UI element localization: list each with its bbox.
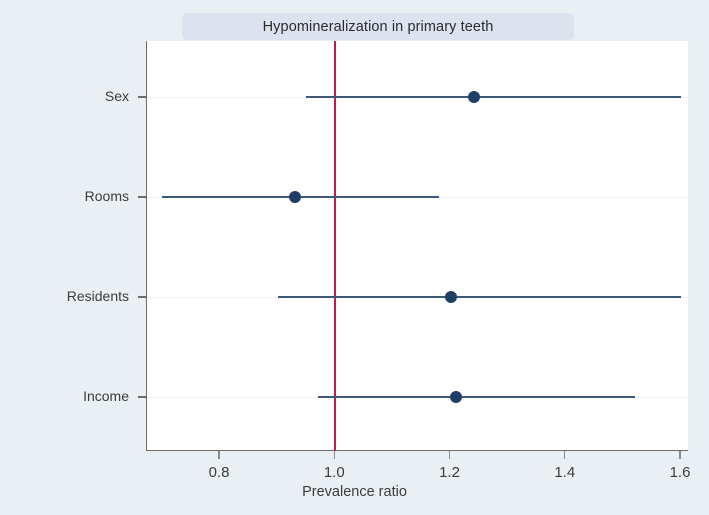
reference-line-icon [334,41,336,451]
forest-plot-figure: Hypomineralization in primary teeth SexR… [0,0,709,515]
confidence-interval-line [278,296,681,298]
x-axis-tick-mark [564,451,565,459]
confidence-interval-line [318,396,635,398]
y-axis-tick-label-sex: Sex [0,88,129,104]
y-axis-tick-mark [138,396,147,397]
data-point-marker[interactable] [445,291,457,303]
y-axis-tick-label-residents: Residents [0,288,129,304]
x-axis-tick-mark [218,451,219,459]
x-axis-title: Prevalence ratio [0,484,709,500]
chart-title-banner: Hypomineralization in primary teeth [182,13,574,40]
chart-title: Hypomineralization in primary teeth [263,19,494,35]
confidence-interval-line [306,96,681,98]
x-axis-tick-label-1.4: 1.4 [554,464,575,481]
y-axis-tick-mark [138,296,147,297]
x-axis-tick-label-1.6: 1.6 [670,464,691,481]
y-axis-tick-label-income: Income [0,388,129,404]
x-axis-tick-mark [334,451,335,459]
plot-area [146,41,688,451]
y-axis-tick-label-rooms: Rooms [0,188,129,204]
data-point-marker[interactable] [450,391,462,403]
x-axis-tick-label-1.2: 1.2 [439,464,460,481]
x-axis-tick-mark [449,451,450,459]
data-point-marker[interactable] [468,91,480,103]
x-axis-tick-label-0.8: 0.8 [209,464,230,481]
data-point-marker[interactable] [289,191,301,203]
x-axis-tick-label-1.0: 1.0 [324,464,345,481]
y-axis-tick-mark [138,196,147,197]
y-axis-tick-mark [138,96,147,97]
x-axis-tick-mark [679,451,680,459]
